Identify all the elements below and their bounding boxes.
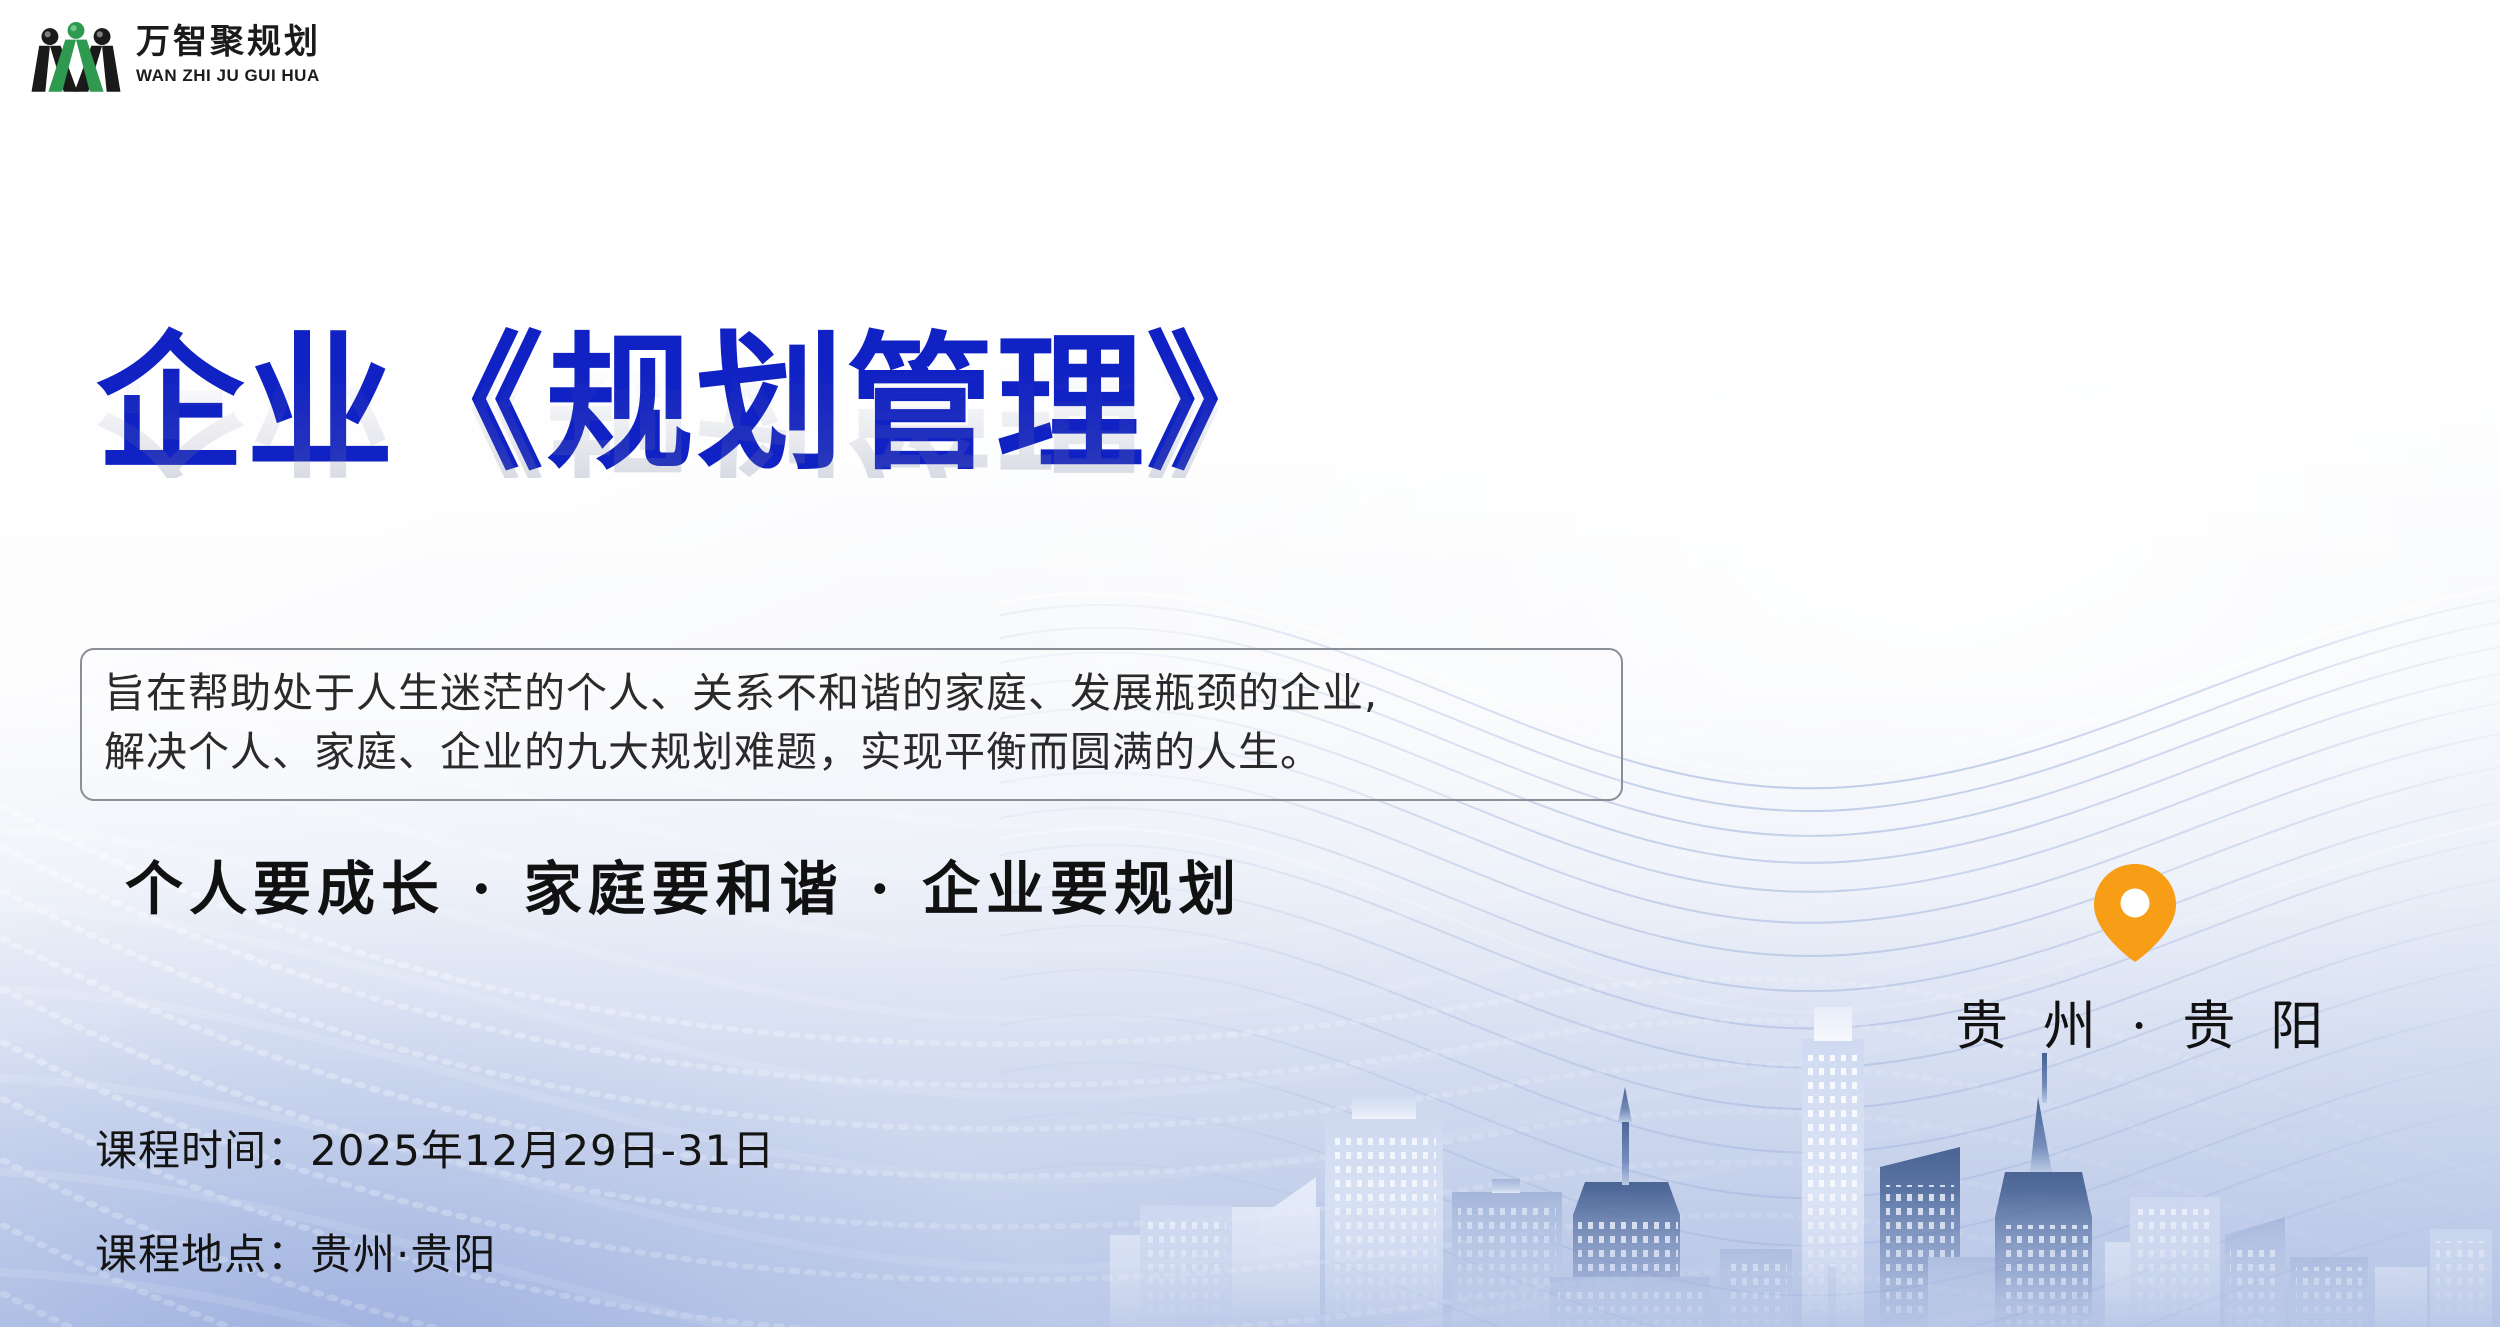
poster-canvas: 万智聚规划 WAN ZHI JU GUI HUA 企业《规划管理》 企业《规划管… [0, 0, 2500, 1327]
brand-name-en: WAN ZHI JU GUI HUA [136, 67, 321, 84]
page-title-reflection: 企业《规划管理》 [96, 358, 1696, 478]
location-label: 贵 州 · 贵 阳 [1955, 984, 2315, 1060]
course-info: 课程时间：2025年12月29日-31日 课程地点：贵州·贵阳 [95, 1117, 775, 1282]
brand-logo: 万智聚规划 WAN ZHI JU GUI HUA [30, 16, 321, 94]
description-line-1: 旨在帮助处于人生迷茫的个人、关系不和谐的家庭、发展瓶颈的企业, [104, 664, 1599, 723]
course-time: 课程时间：2025年12月29日-31日 [95, 1117, 775, 1178]
map-pin-icon [2092, 862, 2178, 962]
brand-name-cn: 万智聚规划 [136, 26, 321, 60]
course-place: 课程地点：贵州·贵阳 [95, 1221, 775, 1282]
location-block: 贵 州 · 贵 阳 [1955, 862, 2315, 1060]
hero-slogan: 个人要成长 · 家庭要和谐 · 企业要规划 [125, 842, 1242, 926]
description-box: 旨在帮助处于人生迷茫的个人、关系不和谐的家庭、发展瓶颈的企业, 解决个人、家庭、… [80, 648, 1623, 801]
brand-logo-text: 万智聚规划 WAN ZHI JU GUI HUA [136, 26, 321, 84]
hero-title-wrap: 企业《规划管理》 企业《规划管理》 [96, 330, 1696, 598]
description-line-2: 解决个人、家庭、企业的九大规划难题，实现平衡而圆满的人生。 [104, 723, 1599, 782]
three-people-logo-icon [30, 16, 122, 94]
